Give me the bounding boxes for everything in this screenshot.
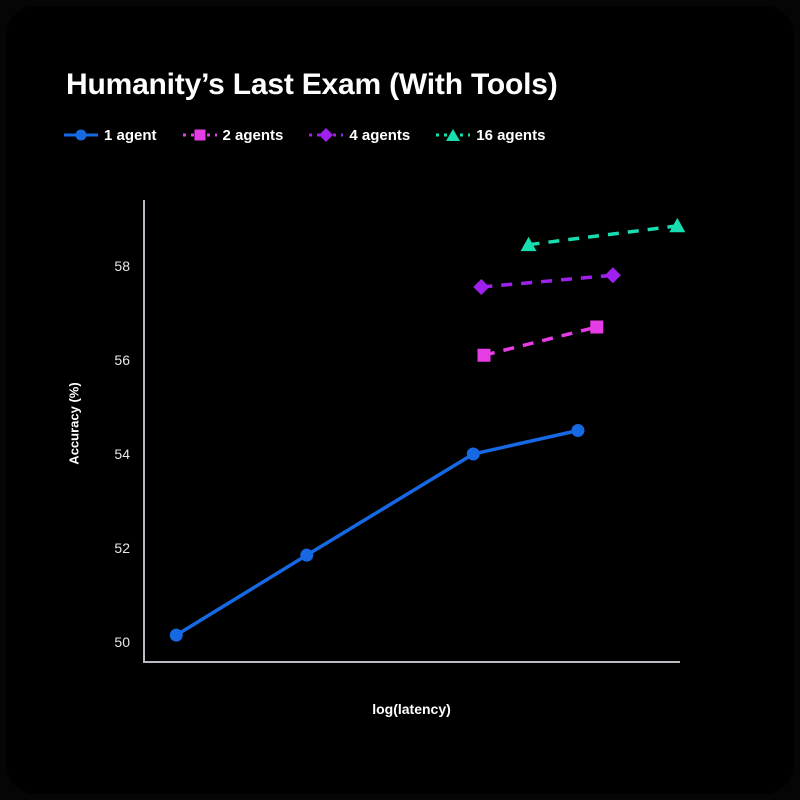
- series-line: [176, 431, 578, 636]
- series-line: [481, 275, 613, 287]
- chart-series-layer: [6, 6, 794, 794]
- series-point-marker: [170, 629, 183, 642]
- plot-area: 5856545250 Accuracy (%) log(latency): [6, 6, 794, 794]
- series-point-marker: [571, 424, 584, 437]
- series-point-marker: [605, 267, 621, 283]
- series-line: [484, 327, 597, 355]
- series-point-marker: [477, 349, 490, 362]
- series-point-marker: [300, 549, 313, 562]
- series-point-marker: [590, 321, 603, 334]
- series-point-marker: [473, 279, 489, 295]
- chart-card: Humanity’s Last Exam (With Tools) 1 agen…: [6, 6, 794, 794]
- series-point-marker: [467, 448, 480, 461]
- x-axis-title: log(latency): [143, 701, 680, 717]
- y-axis-title: Accuracy (%): [67, 344, 82, 504]
- series-line: [529, 226, 678, 245]
